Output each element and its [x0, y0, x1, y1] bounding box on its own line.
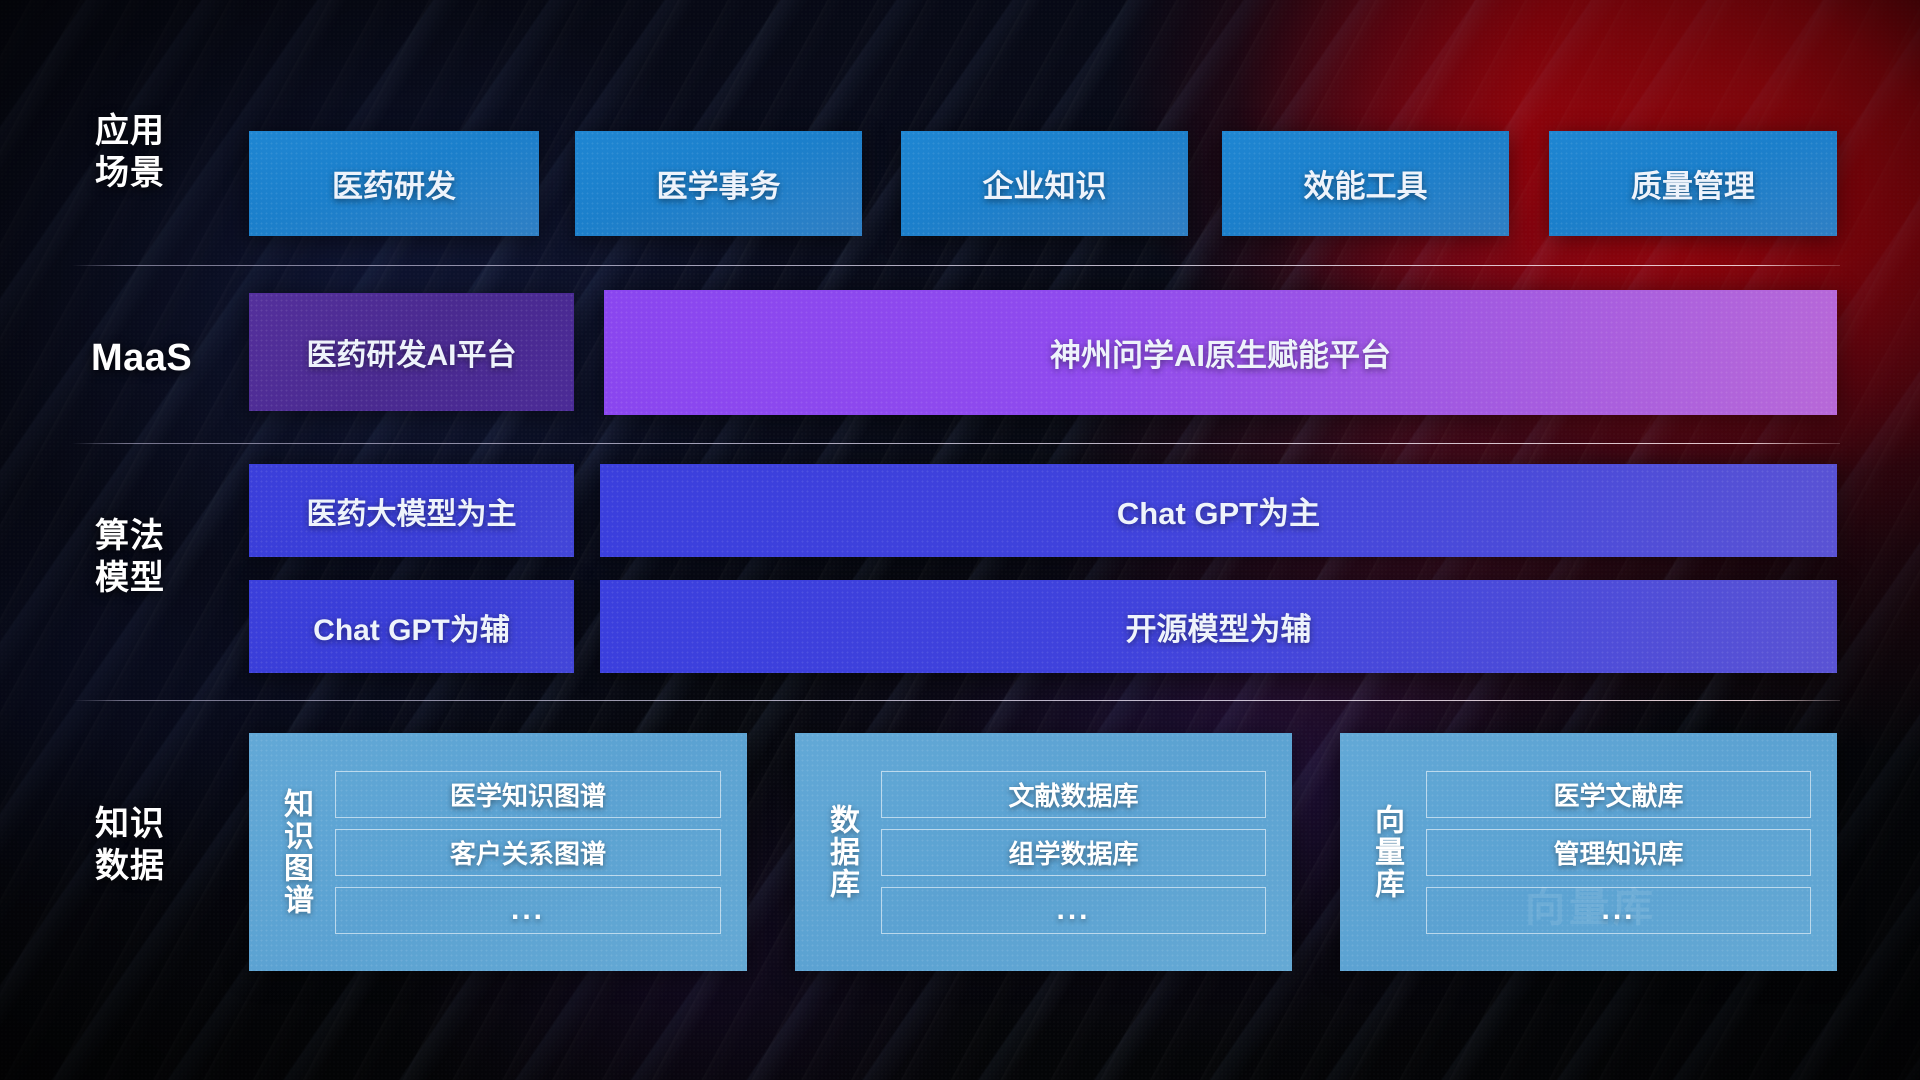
knowledge-item-1-2[interactable]: 客户关系图谱 — [335, 829, 721, 876]
app-card-3-label: 企业知识 — [983, 161, 1107, 206]
knowledge-group-knowledge-graph[interactable]: 知识图谱 医学知识图谱 客户关系图谱 ... — [249, 733, 747, 971]
knowledge-group-2-title: 数据库 — [823, 804, 859, 900]
algo-primary-card[interactable]: 医药大模型为主 — [249, 464, 574, 557]
maas-platform-card-label: 医药研发AI平台 — [307, 330, 517, 374]
app-card-2-label: 医学事务 — [657, 161, 781, 206]
algo-secondary-card[interactable]: Chat GPT为辅 — [249, 580, 574, 673]
app-card-1[interactable]: 医药研发 — [249, 131, 539, 236]
app-card-4[interactable]: 效能工具 — [1222, 131, 1509, 236]
algo-primary-card-label: 医药大模型为主 — [307, 489, 517, 533]
algo-secondary-card-label: Chat GPT为辅 — [313, 605, 510, 649]
row-label-algorithm-model: 算法 模型 — [95, 515, 245, 599]
app-card-3[interactable]: 企业知识 — [901, 131, 1188, 236]
knowledge-item-3-3[interactable]: ... — [1426, 887, 1811, 934]
divider-after-application — [72, 265, 1840, 266]
slide-canvas: 应用 场景 医药研发 医学事务 企业知识 效能工具 质量管理 MaaS 医药研发… — [0, 0, 1920, 1080]
knowledge-item-2-2[interactable]: 组学数据库 — [881, 829, 1266, 876]
divider-after-algorithm — [72, 700, 1840, 701]
app-card-4-label: 效能工具 — [1304, 161, 1428, 206]
algo-secondary-wide-label: 开源模型为辅 — [1126, 604, 1312, 649]
knowledge-item-3-1[interactable]: 医学文献库 — [1426, 771, 1811, 818]
app-card-1-label: 医药研发 — [332, 161, 456, 206]
row-label-knowledge-data: 知识 数据 — [95, 803, 245, 887]
row-label-maas: MaaS — [91, 337, 271, 379]
divider-after-maas — [72, 443, 1840, 444]
algo-primary-wide-bar[interactable]: Chat GPT为主 — [600, 464, 1837, 557]
knowledge-item-2-1[interactable]: 文献数据库 — [881, 771, 1266, 818]
algo-primary-wide-label: Chat GPT为主 — [1117, 488, 1320, 533]
knowledge-group-3-title: 向量库 — [1368, 804, 1404, 900]
knowledge-item-1-3[interactable]: ... — [335, 887, 721, 934]
knowledge-group-vector-db[interactable]: 向量库 向量库 医学文献库 管理知识库 ... — [1340, 733, 1837, 971]
maas-platform-card[interactable]: 医药研发AI平台 — [249, 293, 574, 411]
knowledge-group-database[interactable]: 数据库 文献数据库 组学数据库 ... — [795, 733, 1292, 971]
algo-secondary-wide-bar[interactable]: 开源模型为辅 — [600, 580, 1837, 673]
app-card-2[interactable]: 医学事务 — [575, 131, 862, 236]
knowledge-group-1-title: 知识图谱 — [277, 788, 313, 916]
maas-enablement-platform-bar[interactable]: 神州问学AI原生赋能平台 — [604, 290, 1837, 415]
knowledge-item-3-2[interactable]: 管理知识库 — [1426, 829, 1811, 876]
app-card-5-label: 质量管理 — [1631, 161, 1755, 206]
knowledge-item-1-1[interactable]: 医学知识图谱 — [335, 771, 721, 818]
app-card-5[interactable]: 质量管理 — [1549, 131, 1837, 236]
maas-enablement-platform-label: 神州问学AI原生赋能平台 — [1050, 330, 1391, 375]
row-label-application-scenario: 应用 场景 — [95, 110, 245, 194]
knowledge-item-2-3[interactable]: ... — [881, 887, 1266, 934]
